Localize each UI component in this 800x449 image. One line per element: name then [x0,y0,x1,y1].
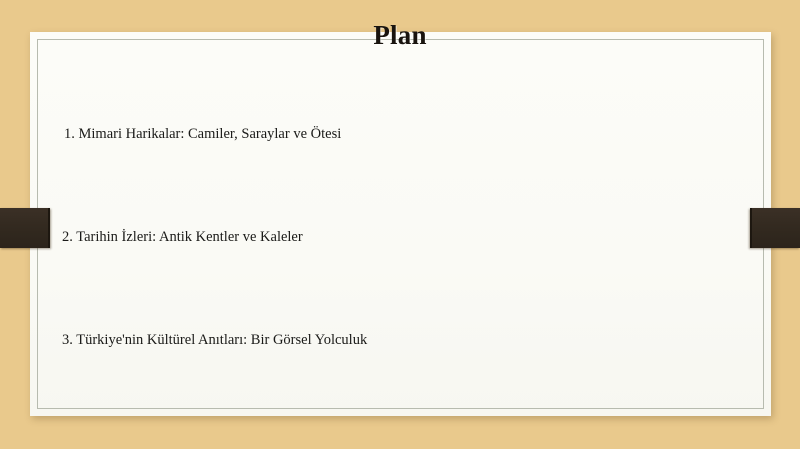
decorative-bar-right [750,208,800,248]
plan-list-item-3: 3. Türkiye'nin Kültürel Anıtları: Bir Gö… [62,330,367,350]
card-inner-border [37,39,764,409]
plan-list-item-2: 2. Tarihin İzleri: Antik Kentler ve Kale… [62,227,303,247]
presentation-slide: Plan 1. Mimari Harikalar: Camiler, Saray… [0,0,800,449]
decorative-bar-left [0,208,50,248]
slide-content-card [30,32,771,416]
slide-title: Plan [0,20,800,50]
plan-list-item-1: 1. Mimari Harikalar: Camiler, Saraylar v… [64,124,341,144]
